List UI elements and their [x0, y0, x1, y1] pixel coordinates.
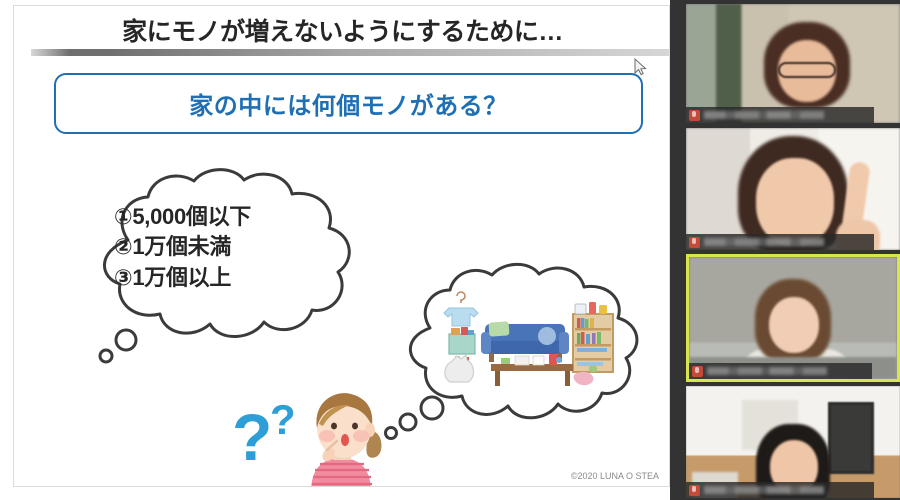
toy-box-icon	[449, 327, 475, 361]
question-box: 家の中には何個モノがある？	[54, 73, 643, 134]
door	[828, 402, 874, 474]
title-divider	[31, 49, 670, 56]
bookshelf-icon	[573, 302, 613, 372]
video-participants-panel[interactable]	[670, 0, 900, 500]
question-box-text: 家の中には何個モノがある？	[189, 86, 508, 121]
participant-face	[769, 297, 819, 353]
screen: 家にモノが増えないようにするために… 家の中には何個モノがある？ ①5,000個…	[0, 0, 900, 500]
participant-name	[704, 111, 824, 119]
participant-name	[707, 367, 827, 375]
video-tile-1[interactable]	[686, 4, 900, 123]
cluttered-room-illustration	[439, 286, 624, 396]
microphone-muted-icon	[692, 366, 703, 377]
video-tile-2[interactable]	[686, 128, 900, 250]
video-tile-3[interactable]	[686, 254, 900, 382]
trash-bag-icon	[445, 355, 474, 382]
coffee-table-icon	[491, 354, 573, 386]
svg-text:?: ?	[232, 400, 272, 474]
participant-name-bar	[689, 363, 872, 379]
mouse-cursor-icon	[634, 58, 648, 76]
presentation-slide[interactable]: 家にモノが増えないようにするために… 家の中には何個モノがある？ ①5,000個…	[13, 5, 670, 487]
video-tile-4[interactable]	[686, 386, 900, 498]
participant-name-bar	[686, 107, 874, 123]
participant-name-bar	[686, 482, 874, 498]
room-thought-bubble	[384, 256, 670, 441]
participant-face	[756, 158, 834, 246]
options-list: ①5,000個以下 ②1万個未満 ③1万個以上	[114, 202, 364, 293]
glasses-icon	[778, 62, 836, 78]
thinking-woman-illustration	[289, 384, 399, 487]
list-item: ①5,000個以下	[114, 202, 364, 232]
list-item: ②1万個未満	[114, 232, 364, 262]
list-item: ③1万個以上	[114, 263, 364, 293]
microphone-muted-icon	[689, 110, 700, 121]
microphone-muted-icon	[689, 485, 700, 496]
microphone-muted-icon	[689, 237, 700, 248]
clothes-hanger-icon	[444, 292, 478, 326]
options-thought-bubble: ①5,000個以下 ②1万個未満 ③1万個以上	[66, 164, 396, 364]
participant-name-bar	[686, 234, 874, 250]
copyright-text: ©2020 LUNA O STEA	[571, 471, 659, 481]
page-title: 家にモノが増えないようにするために…	[14, 12, 670, 48]
participant-name	[704, 486, 824, 494]
participant-name	[704, 238, 824, 246]
